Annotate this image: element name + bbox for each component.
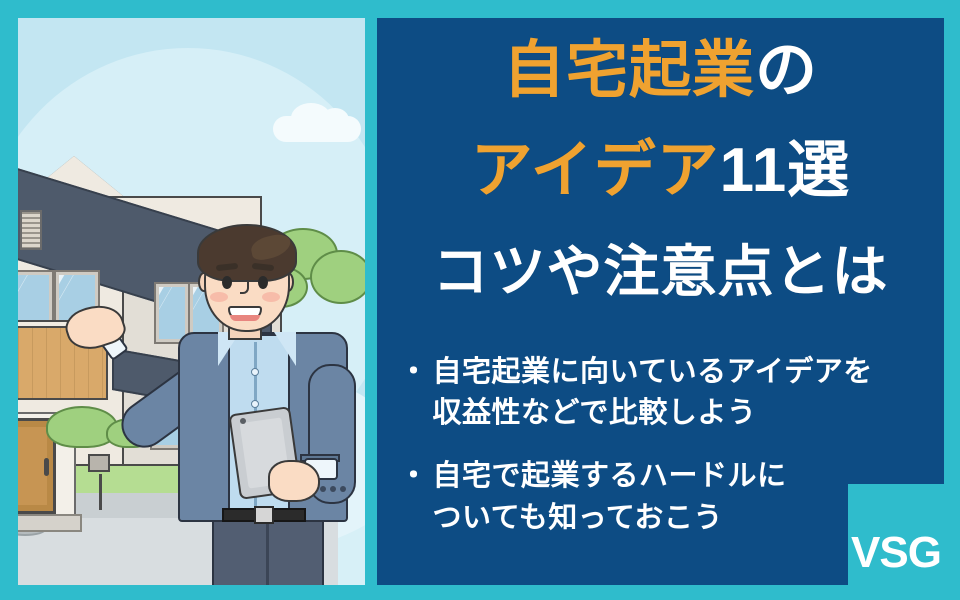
- title-line-3: コツや注意点とは: [377, 244, 944, 300]
- vsg-logo-text: VSG: [851, 531, 941, 585]
- roof-vent-icon: [20, 210, 42, 250]
- title-keyword-accent: 自宅起業: [503, 36, 755, 105]
- illustration-panel: [18, 18, 365, 585]
- eye: [222, 276, 232, 289]
- list-item: ・ 自宅起業に向いているアイデアを 収益性などで比較しよう: [399, 352, 930, 434]
- tablet-camera-icon: [240, 418, 246, 424]
- sleeve-button: [340, 486, 346, 492]
- sleeve-button: [320, 486, 326, 492]
- window: [18, 272, 52, 324]
- bullet-dot-icon: ・: [399, 456, 429, 497]
- businessman-figure: [168, 214, 365, 585]
- mailbox-icon: [88, 454, 110, 472]
- entry-step: [18, 514, 82, 532]
- list-item-line-2: ついても知っておこう: [433, 502, 723, 534]
- trousers: [212, 518, 324, 585]
- list-item-line-1: 自宅で起業するハードルに: [433, 460, 787, 492]
- title-line-2: アイデア11選: [377, 140, 944, 202]
- eye: [258, 276, 268, 289]
- shirt-button: [251, 368, 259, 376]
- sleeve-button: [330, 486, 336, 492]
- door-handle-icon: [44, 458, 49, 476]
- collar-right: [274, 332, 296, 366]
- title-line-1: 自宅起業の: [377, 40, 944, 102]
- title-idea-accent: アイデア: [471, 136, 720, 205]
- vsg-logo: VSG: [848, 484, 944, 585]
- shirt-button: [251, 400, 259, 408]
- list-item-line-2: 収益性などで比較しよう: [433, 397, 757, 429]
- title-particle: の: [755, 36, 818, 105]
- cheek-blush: [262, 292, 280, 302]
- cheek-blush: [210, 292, 228, 302]
- poster-canvas: 自宅起業の アイデア11選 コツや注意点とは ・ 自宅起業に向いているアイデアを…: [0, 0, 960, 600]
- bullet-dot-icon: ・: [399, 352, 429, 393]
- belt-buckle-icon: [254, 506, 274, 524]
- holding-hand-icon: [268, 460, 320, 502]
- list-item-text: 自宅起業に向いているアイデアを 収益性などで比較しよう: [433, 352, 930, 434]
- hair: [197, 224, 297, 282]
- smiling-mouth: [228, 306, 262, 321]
- title-count: 11選: [720, 136, 851, 205]
- list-item-line-1: 自宅起業に向いているアイデアを: [433, 356, 873, 388]
